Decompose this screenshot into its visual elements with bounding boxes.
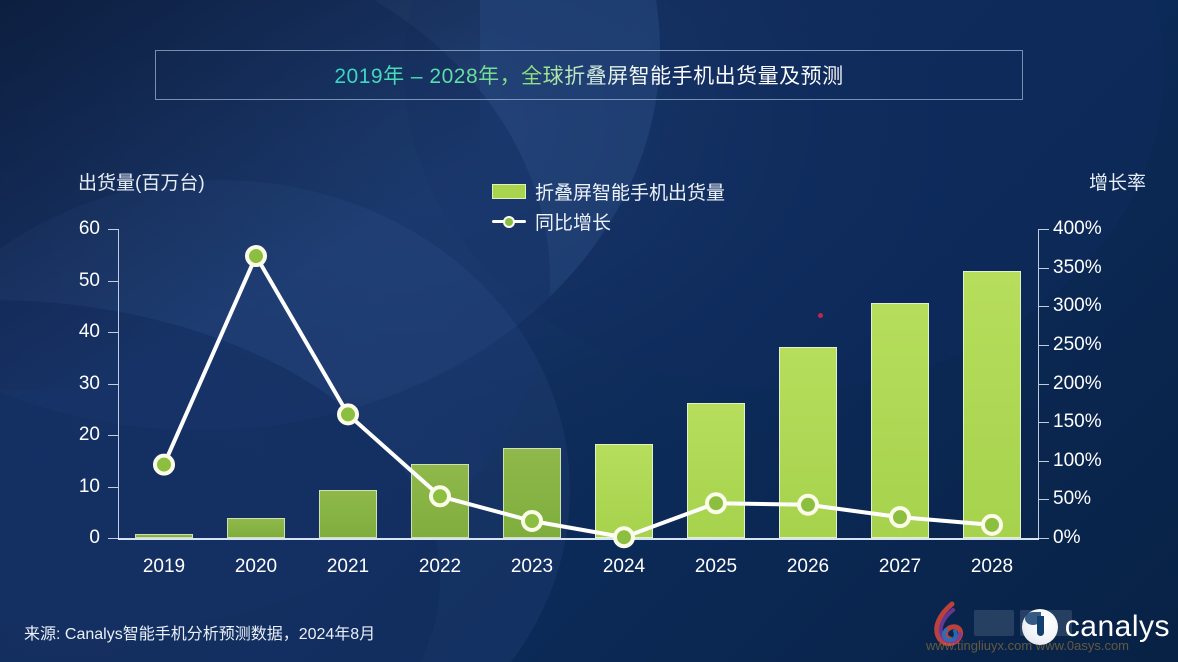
legend-label-shipments: 折叠屏智能手机出货量: [535, 178, 725, 205]
y-axis-right-tick-label: 350%: [1053, 257, 1143, 279]
bar-2021: [319, 490, 376, 538]
bar-2028: [963, 271, 1020, 538]
canalys-logo-text: canalys: [1065, 610, 1170, 644]
bar-2025: [687, 403, 744, 538]
x-axis-tick-label: 2024: [578, 556, 670, 578]
legend-item-shipments: 折叠屏智能手机出货量: [492, 178, 725, 204]
branding-area: www.tingliuyx.com www.0asys.com canalys: [1022, 598, 1170, 656]
canalys-globe-icon: [1022, 609, 1058, 645]
y-axis-right-tick: [1039, 422, 1049, 423]
x-axis-tick-label: 2028: [946, 556, 1038, 578]
y-axis-right-tick-label: 50%: [1053, 488, 1143, 510]
x-axis-tick-label: 2021: [302, 556, 394, 578]
x-axis-tick-label: 2025: [670, 556, 762, 578]
y-axis-right-tick: [1039, 461, 1049, 462]
bar-2019: [135, 534, 192, 538]
y-axis-left-tick-label: 30: [30, 373, 100, 395]
y-axis-right-tick: [1039, 499, 1049, 500]
y-axis-left-tick-label: 40: [30, 321, 100, 343]
y-axis-left-tick: [108, 281, 118, 282]
y-axis-right-tick-label: 200%: [1053, 373, 1143, 395]
plot-area: [118, 229, 1038, 538]
y-axis-left-tick-label: 60: [30, 218, 100, 240]
x-axis-tick-label: 2027: [854, 556, 946, 578]
y-axis-left-tick-label: 10: [30, 476, 100, 498]
y-axis-right-tick: [1039, 268, 1049, 269]
legend-line-marker-icon: [492, 214, 526, 229]
y-axis-right-tick: [1039, 538, 1049, 539]
x-axis-tick-label: 2023: [486, 556, 578, 578]
red-dot-marker: [818, 313, 823, 318]
bar-2020: [227, 518, 284, 538]
bar-2024: [595, 444, 652, 538]
y-axis-right-tick: [1039, 306, 1049, 307]
canalys-logo: canalys: [1022, 609, 1170, 645]
y-axis-right-tick: [1039, 229, 1049, 230]
chart-title-box: 2019年 – 2028年，全球折叠屏智能手机出货量及预测: [155, 50, 1023, 100]
x-axis-tick-label: 2022: [394, 556, 486, 578]
x-axis-tick-label: 2019: [118, 556, 210, 578]
y-axis-right-tick-label: 0%: [1053, 527, 1143, 549]
y-axis-left-tick-label: 50: [30, 270, 100, 292]
source-note: 来源: Canalys智能手机分析预测数据，2024年8月: [24, 620, 375, 644]
y-axis-left-tick: [108, 332, 118, 333]
y-axis-left-tick: [108, 229, 118, 230]
y-axis-left-tick-label: 20: [30, 424, 100, 446]
y-axis-right-tick-label: 400%: [1053, 218, 1143, 240]
y-axis-right-tick-label: 150%: [1053, 411, 1143, 433]
bar-2022: [411, 464, 468, 538]
bar-2023: [503, 448, 560, 538]
x-axis-tick-label: 2026: [762, 556, 854, 578]
y-axis-left-tick: [108, 487, 118, 488]
legend-bar-swatch-icon: [492, 184, 526, 199]
y-axis-right-tick-label: 300%: [1053, 295, 1143, 317]
y-axis-left-tick: [108, 538, 118, 539]
y-axis-right-tick-label: 100%: [1053, 450, 1143, 472]
y-axis-right-tick-label: 250%: [1053, 334, 1143, 356]
y-axis-left-tick: [108, 435, 118, 436]
y-axis-right-tick: [1039, 384, 1049, 385]
bar-2027: [871, 303, 928, 538]
x-axis-tick-label: 2020: [210, 556, 302, 578]
x-axis-line: [118, 538, 1039, 540]
y-axis-left-tick-label: 0: [30, 527, 100, 549]
y-axis-left-title: 出货量(百万台): [78, 168, 205, 195]
y-axis-left-tick: [108, 384, 118, 385]
y-axis-right-tick: [1039, 345, 1049, 346]
chart-title: 2019年 – 2028年，全球折叠屏智能手机出货量及预测: [334, 60, 843, 90]
legend-dot-icon: [503, 216, 515, 228]
bar-2026: [779, 347, 836, 538]
y-axis-right-title: 增长率: [1089, 168, 1146, 195]
